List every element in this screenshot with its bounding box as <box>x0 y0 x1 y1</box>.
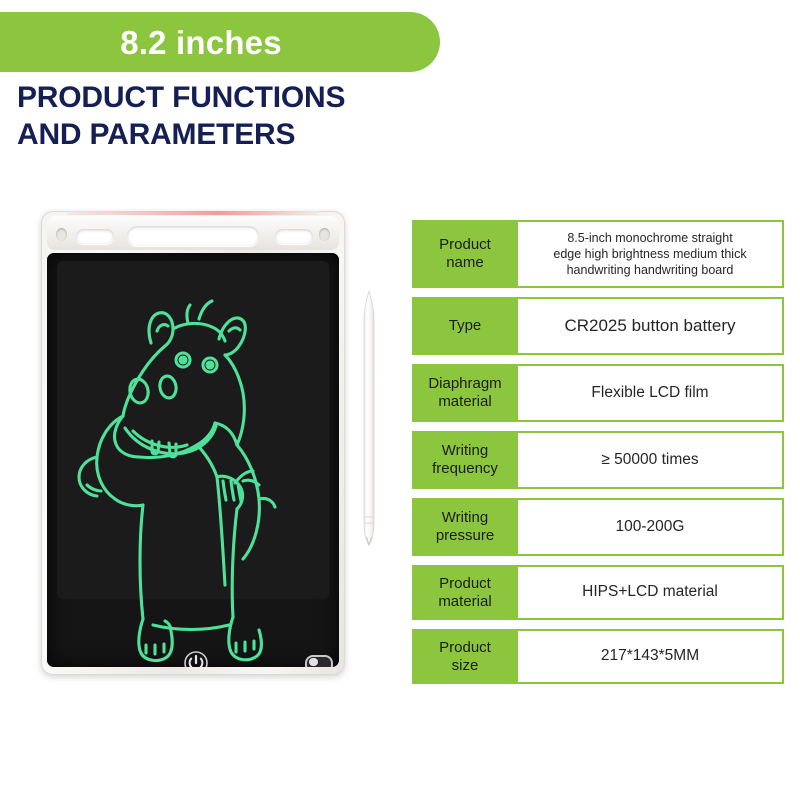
spec-value-writing-pressure: 100-200G <box>518 498 784 556</box>
spec-label-line-2: material <box>438 393 491 410</box>
spec-value-product-material: HIPS+LCD material <box>518 565 784 620</box>
spec-value-product-size: 217*143*5MM <box>518 629 784 684</box>
spec-label-line-2: size <box>452 657 479 674</box>
lcd-screen <box>47 253 339 667</box>
page-title-line-1: PRODUCT FUNCTIONS <box>17 80 517 117</box>
handle-slot-right <box>275 229 313 244</box>
tablet-handle-bar <box>47 216 339 250</box>
lock-switch[interactable] <box>305 655 333 667</box>
spec-value-line-1: 8.5-inch monochrome straight <box>567 231 732 245</box>
hang-hole-left-icon <box>56 228 67 241</box>
spec-label-line-1: Product <box>439 575 491 592</box>
spec-table: Product name 8.5-inch monochrome straigh… <box>412 220 784 693</box>
spec-label-product-material: Product material <box>412 565 518 620</box>
spec-label-line-1: Writing <box>442 509 488 526</box>
spec-label-writing-frequency: Writing frequency <box>412 431 518 489</box>
stylus-pen <box>358 289 380 547</box>
size-badge-label: 8.2 inches <box>120 26 282 59</box>
spec-label-line-1: Writing <box>442 442 488 459</box>
spec-label-product-name: Product name <box>412 220 518 288</box>
spec-value-type: CR2025 button battery <box>518 297 784 355</box>
spec-label-product-size: Product size <box>412 629 518 684</box>
handle-slot-center <box>127 226 259 246</box>
spec-label-line-2: pressure <box>436 527 494 544</box>
table-row: Diaphragm material Flexible LCD film <box>412 364 784 422</box>
table-row: Writing frequency ≥ 50000 times <box>412 431 784 489</box>
spec-label-writing-pressure: Writing pressure <box>412 498 518 556</box>
spec-label-line-2: name <box>446 254 484 271</box>
spec-label-line-2: material <box>438 593 491 610</box>
table-row: Product size 217*143*5MM <box>412 629 784 684</box>
spec-label-type: Type <box>412 297 518 355</box>
hang-hole-right-icon <box>319 228 330 241</box>
tablet-top-accent-strip <box>67 211 319 215</box>
spec-value-line-3: handwriting handwriting board <box>567 263 734 277</box>
handle-slot-left <box>76 229 114 244</box>
power-erase-button[interactable] <box>183 650 209 667</box>
spec-label-line-1: Diaphragm <box>428 375 501 392</box>
spec-value-writing-frequency: ≥ 50000 times <box>518 431 784 489</box>
page-title-line-2: AND PARAMETERS <box>17 117 517 154</box>
hippo-drawing <box>47 253 339 667</box>
spec-value-line-2: edge high brightness medium thick <box>553 247 746 261</box>
table-row: Writing pressure 100-200G <box>412 498 784 556</box>
table-row: Product material HIPS+LCD material <box>412 565 784 620</box>
spec-value-product-name: 8.5-inch monochrome straight edge high b… <box>518 220 784 288</box>
spec-value-diaphragm-material: Flexible LCD film <box>518 364 784 422</box>
spec-label-diaphragm-material: Diaphragm material <box>412 364 518 422</box>
spec-label-line-1: Product <box>439 236 491 253</box>
product-photo <box>36 205 396 695</box>
spec-label-line-2: frequency <box>432 460 498 477</box>
writing-tablet-frame <box>41 211 345 675</box>
page-title: PRODUCT FUNCTIONS AND PARAMETERS <box>17 80 517 153</box>
table-row: Type CR2025 button battery <box>412 297 784 355</box>
table-row: Product name 8.5-inch monochrome straigh… <box>412 220 784 288</box>
product-infographic: 8.2 inches PRODUCT FUNCTIONS AND PARAMET… <box>0 0 800 800</box>
size-badge: 8.2 inches <box>0 12 440 72</box>
spec-label-line-1: Product <box>439 639 491 656</box>
spec-label-line-1: Type <box>449 317 482 335</box>
